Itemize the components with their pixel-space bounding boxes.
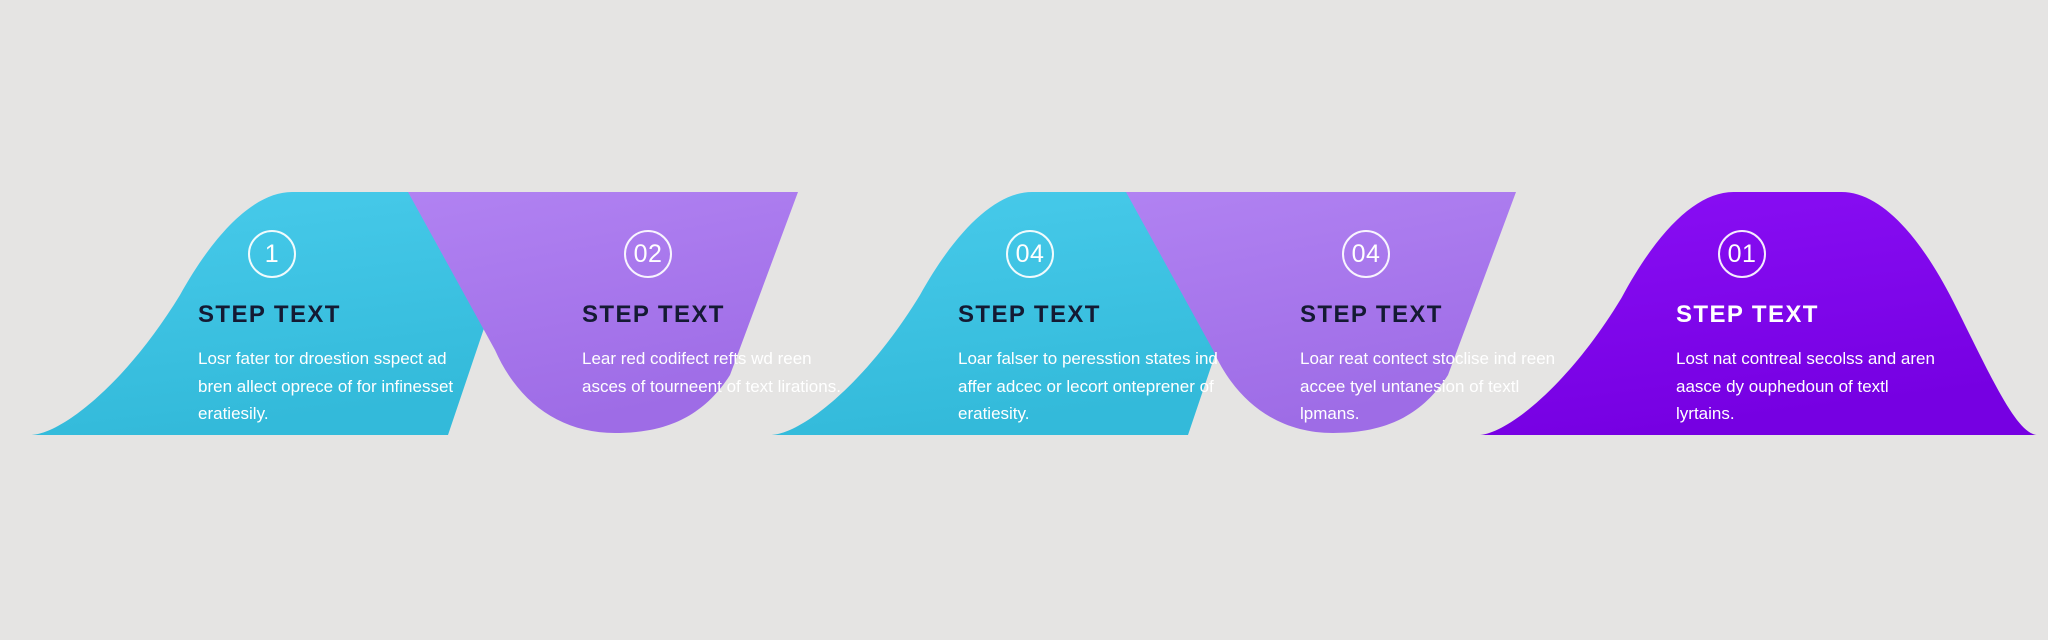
step-panel-5[interactable]: 01 STEP TEXT Lost nat contreal secolss a…	[1478, 190, 2038, 435]
step-shape-5	[1478, 190, 2038, 435]
infographic-root: 1 STEP TEXT Losr fater tor droestion ssp…	[0, 0, 2048, 640]
steps-row: 1 STEP TEXT Losr fater tor droestion ssp…	[0, 0, 2048, 640]
